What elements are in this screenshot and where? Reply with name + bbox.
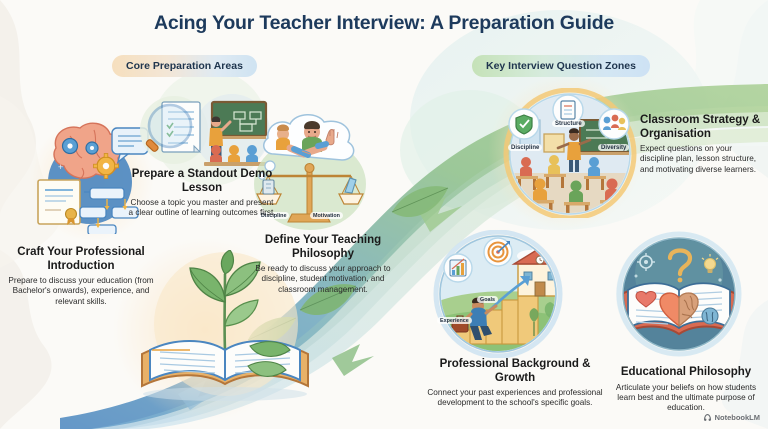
text-block-professional-growth: Professional Background & Growth Connect… <box>424 358 606 409</box>
illustration-educational-philosophy <box>612 230 746 358</box>
heading-classroom-strategy: Classroom Strategy & Organisation <box>640 114 766 141</box>
heading-demo-lesson: Prepare a Standout Demo Lesson <box>128 168 276 195</box>
text-block-demo-lesson: Prepare a Standout Demo Lesson Choose a … <box>128 168 276 219</box>
notebooklm-logo-icon <box>703 413 712 422</box>
notebooklm-watermark: NotebookLM <box>703 413 760 422</box>
heading-educational-philosophy: Educational Philosophy <box>606 366 766 380</box>
text-block-teaching-philosophy: Define Your Teaching Philosophy Be ready… <box>248 234 398 295</box>
heading-teaching-philosophy: Define Your Teaching Philosophy <box>248 234 398 261</box>
body-professional-growth: Connect your past experiences and profes… <box>424 388 606 409</box>
chip-motivation-scale: Motivation <box>310 212 343 219</box>
illustration-classroom-strategy <box>496 88 644 218</box>
watermark-label: NotebookLM <box>715 413 760 422</box>
chip-diversity: Diversity <box>598 144 629 151</box>
body-classroom-strategy: Expect questions on your discipline plan… <box>640 144 766 175</box>
section-badge-question-zones: Key Interview Question Zones <box>472 55 650 77</box>
page-title: Acing Your Teacher Interview: A Preparat… <box>0 12 768 35</box>
svg-text:+: + <box>58 162 63 172</box>
chip-discipline: Discipline <box>508 144 542 151</box>
chip-goals: Goals <box>477 296 498 303</box>
body-demo-lesson: Choose a topic you master and present a … <box>128 198 276 219</box>
text-block-professional-introduction: Craft Your Professional Introduction Pre… <box>4 246 158 307</box>
body-teaching-philosophy: Be ready to discuss your approach to dis… <box>248 264 398 295</box>
infographic-canvas: Acing Your Teacher Interview: A Preparat… <box>0 0 768 429</box>
text-block-educational-philosophy: Educational Philosophy Articulate your b… <box>606 366 766 414</box>
heading-professional-introduction: Craft Your Professional Introduction <box>4 246 158 273</box>
illustration-professional-growth <box>426 230 570 358</box>
chip-structure: Structure <box>552 120 585 127</box>
heading-professional-growth: Professional Background & Growth <box>424 358 606 385</box>
chip-experience: Experience <box>437 317 472 324</box>
section-badge-core-preparation: Core Preparation Areas <box>112 55 257 77</box>
body-educational-philosophy: Articulate your beliefs on how students … <box>606 383 766 414</box>
body-professional-introduction: Prepare to discuss your education (from … <box>4 276 158 307</box>
text-block-classroom-strategy: Classroom Strategy & Organisation Expect… <box>640 114 766 175</box>
